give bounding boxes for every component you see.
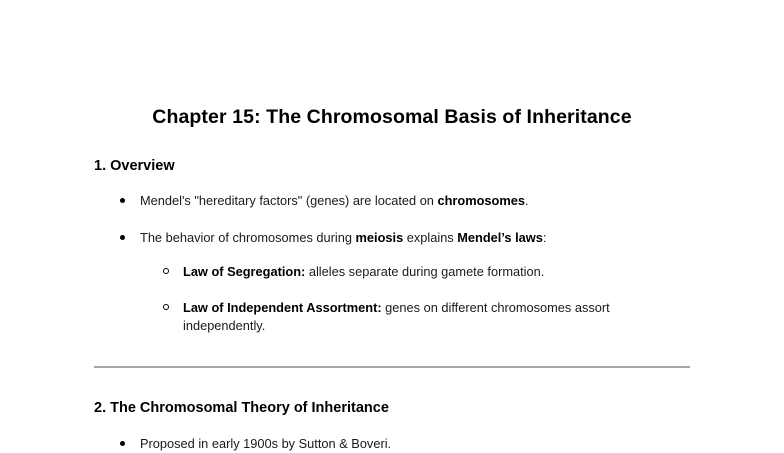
list-item: Law of Segregation: alleles separate dur… <box>140 263 690 282</box>
list-item-text-bold: meiosis <box>356 230 404 245</box>
list-item: The behavior of chromosomes during meios… <box>94 229 690 336</box>
list-item: Law of Independent Assortment: genes on … <box>140 299 690 336</box>
bullet-circle-icon <box>163 268 169 274</box>
list-item: Mendel's "hereditary factors" (genes) ar… <box>94 192 690 211</box>
list-item-text-pre: The behavior of chromosomes during <box>140 230 356 245</box>
document-page: Chapter 15: The Chromosomal Basis of Inh… <box>0 0 784 441</box>
page-title: Chapter 15: The Chromosomal Basis of Inh… <box>94 105 690 129</box>
section-divider <box>94 366 690 368</box>
list-item-text-pre: Mendel's "hereditary factors" (genes) ar… <box>140 193 437 208</box>
bullet-disc-icon <box>120 235 125 240</box>
section-heading-overview: 1. Overview <box>94 157 690 176</box>
bullet-circle-icon <box>163 304 169 310</box>
section-block-theory: 2. The Chromosomal Theory of Inheritance… <box>94 399 690 453</box>
list-item: Proposed in early 1900s by Sutton & Bove… <box>94 435 690 453</box>
list-item-text-bold: chromosomes <box>437 193 524 208</box>
list-item-text-bold-2: Mendel’s laws <box>457 230 543 245</box>
list-item-text-post: . <box>525 193 529 208</box>
list-item-text-pre: Proposed in early 1900s by Sutton & Bove… <box>140 436 391 451</box>
theory-bullet-list: Proposed in early 1900s by Sutton & Bove… <box>94 435 690 453</box>
list-item-text-mid: explains <box>403 230 457 245</box>
bullet-disc-icon <box>120 441 125 446</box>
sub-item-text: alleles separate during gamete formation… <box>305 264 544 279</box>
sub-item-label: Law of Segregation: <box>183 264 305 279</box>
section-heading-theory: 2. The Chromosomal Theory of Inheritance <box>94 399 690 418</box>
laws-sub-bullet-list: Law of Segregation: alleles separate dur… <box>140 263 690 336</box>
list-item-text-post: : <box>543 230 547 245</box>
document-content: Chapter 15: The Chromosomal Basis of Inh… <box>94 105 690 453</box>
bullet-disc-icon <box>120 198 125 203</box>
sub-item-label: Law of Independent Assortment: <box>183 300 382 315</box>
overview-bullet-list: Mendel's "hereditary factors" (genes) ar… <box>94 192 690 336</box>
